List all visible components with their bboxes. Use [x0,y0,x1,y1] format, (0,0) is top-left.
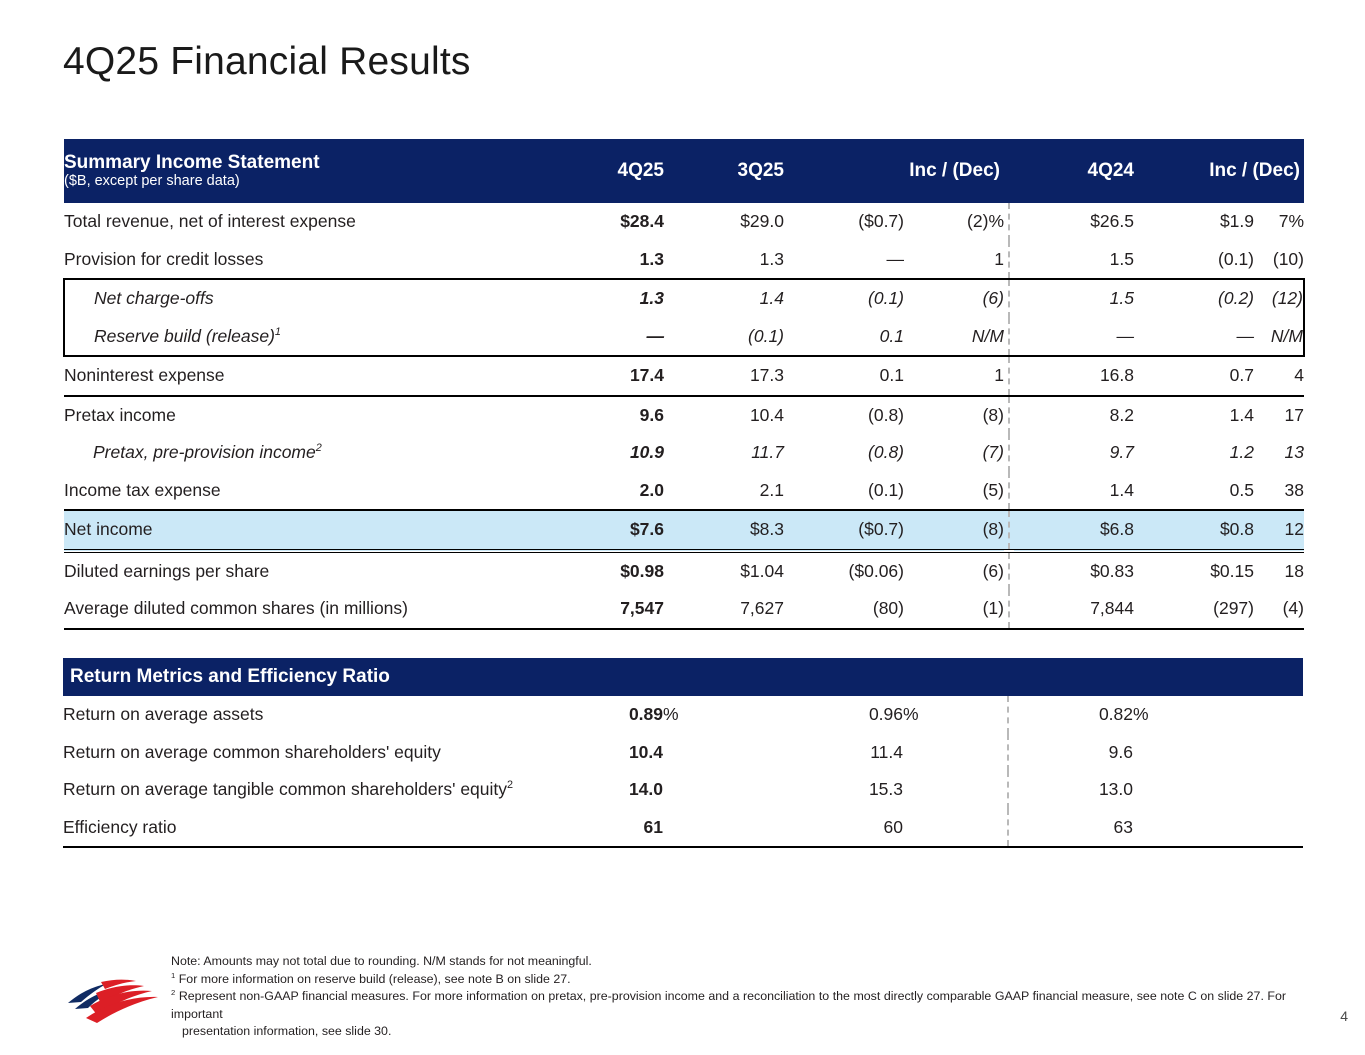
cell-3q25: 1.3 [664,241,784,280]
percent-sign-4q25 [663,809,783,848]
bank-of-america-flagscape-logo [66,973,164,1025]
cell-incdec-qoq-pct: (8) [904,510,1004,551]
cell-4q24: 9.6 [1013,734,1133,772]
column-separator [1004,510,1014,551]
cell-4q24: 16.8 [1014,356,1134,396]
cell-4q24: 0.82 [1013,696,1133,734]
column-separator [1003,809,1013,848]
percent-sign-4q25 [663,734,783,772]
row-label: Noninterest expense [64,356,546,396]
cell-4q25: 61 [545,809,663,848]
percent-sign: % [1288,211,1304,231]
percent-sign-4q24 [1133,771,1253,809]
column-separator [1003,771,1013,809]
cell-incdec-qoq-amt: (0.1) [784,472,904,511]
table-row: Return on average assets 0.89 % 0.96 % 0… [63,696,1303,734]
cell-incdec-qoq-pct: (5) [904,472,1004,511]
cell-3q25: 10.4 [664,396,784,435]
cell-4q25: 17.4 [546,356,664,396]
column-separator [1004,472,1014,511]
cell-4q24: $0.83 [1014,551,1134,591]
income-table-header-title: Summary Income Statement ($B, except per… [64,139,546,203]
return-metrics-table: Return Metrics and Efficiency Ratio Retu… [63,658,1303,848]
cell-3q25: 2.1 [664,472,784,511]
percent-sign: % [988,211,1004,231]
cell-3q25: 1.4 [664,279,784,318]
cell-4q25: 0.89 [545,696,663,734]
row-label: Diluted earnings per share [64,551,546,591]
footnote-marker-1: 1 [171,970,175,979]
cell-3q25: 11.4 [783,734,903,772]
cell-4q24: 9.7 [1014,434,1134,472]
cell-incdec-yoy-amt: 1.2 [1134,434,1254,472]
cell-3q25: 0.96 [783,696,903,734]
column-separator [1004,203,1014,241]
cell-incdec-yoy-amt: $0.15 [1134,551,1254,591]
cell-incdec-qoq-amt: 0.1 [784,356,904,396]
column-separator [1003,696,1013,734]
cell-4q25: — [546,318,664,357]
empty-cell [1253,734,1303,772]
page-title: 4Q25 Financial Results [63,40,471,84]
cell-4q24: $6.8 [1014,510,1134,551]
column-separator [1004,241,1014,280]
cell-4q25: 10.9 [546,434,664,472]
percent-sign-4q25 [663,771,783,809]
cell-3q25: 17.3 [664,356,784,396]
income-table-header-row: Summary Income Statement ($B, except per… [64,139,1304,203]
cell-incdec-yoy-pct: 17 [1254,396,1304,435]
percent-sign-4q24: % [1133,696,1253,734]
footnote-1: 1 For more information on reserve build … [171,971,1286,989]
table-row: Return on average tangible common shareh… [63,771,1303,809]
cell-incdec-qoq-pct: (8) [904,396,1004,435]
footnote-marker-2: 2 [171,988,175,997]
row-label: Efficiency ratio [63,809,545,848]
return-metrics-header-row: Return Metrics and Efficiency Ratio [63,658,1303,696]
column-separator [1004,434,1014,472]
table-row-net-income: Net income $7.6 $8.3 ($0.7) (8) $6.8 $0.… [64,510,1304,551]
percent-sign-3q25: % [903,696,1003,734]
header-gap-cell [1004,139,1014,203]
cell-3q25: 11.7 [664,434,784,472]
cell-4q24: 1.5 [1014,241,1134,280]
cell-4q25: $28.4 [546,203,664,241]
cell-4q25: 1.3 [546,279,664,318]
row-label: Net income [64,510,546,551]
cell-incdec-qoq-amt: (80) [784,590,904,629]
column-header-4q24: 4Q24 [1014,139,1134,203]
row-label: Pretax income [64,396,546,435]
cell-4q25: 10.4 [545,734,663,772]
table-row: Efficiency ratio 61 60 63 [63,809,1303,848]
row-label: Income tax expense [64,472,546,511]
footnotes-block: Note: Amounts may not total due to round… [171,953,1286,1041]
row-label: Return on average assets [63,696,545,734]
column-header-inc-dec-qoq: Inc / (Dec) [784,139,1004,203]
empty-cell [1253,696,1303,734]
percent-sign-4q24 [1133,734,1253,772]
footnote-marker: 2 [316,442,322,454]
cell-incdec-yoy-pct: (4) [1254,590,1304,629]
cell-incdec-qoq-pct: (7) [904,434,1004,472]
footnote-marker: 2 [507,779,513,791]
cell-incdec-qoq-pct: (2)% [904,203,1004,241]
cell-incdec-yoy-amt: (0.2) [1134,279,1254,318]
cell-incdec-yoy-pct: (10) [1254,241,1304,280]
cell-incdec-yoy-pct: N/M [1254,318,1304,357]
table-row: Income tax expense 2.0 2.1 (0.1) (5) 1.4… [64,472,1304,511]
footnote-note: Note: Amounts may not total due to round… [171,953,1286,971]
column-header-4q25: 4Q25 [546,139,664,203]
summary-income-statement-table: Summary Income Statement ($B, except per… [63,139,1303,630]
cell-incdec-qoq-pct: (1) [904,590,1004,629]
table-row: Pretax, pre-provision income2 10.9 11.7 … [64,434,1304,472]
cell-3q25: $8.3 [664,510,784,551]
table-row: Noninterest expense 17.4 17.3 0.1 1 16.8… [64,356,1304,396]
income-table-header-subtitle: ($B, except per share data) [64,173,546,190]
cell-incdec-yoy-amt: $0.8 [1134,510,1254,551]
percent-sign-3q25 [903,809,1003,848]
column-header-3q25: 3Q25 [664,139,784,203]
table-row: Total revenue, net of interest expense $… [64,203,1304,241]
footnote-2-continued: presentation information, see slide 30. [171,1023,1286,1041]
cell-4q25: $0.98 [546,551,664,591]
cell-3q25: 7,627 [664,590,784,629]
income-table-header-title-text: Summary Income Statement [64,152,546,173]
empty-cell [1253,771,1303,809]
page-number: 4 [1340,1008,1348,1024]
row-label: Provision for credit losses [64,241,546,280]
cell-3q25: 15.3 [783,771,903,809]
cell-incdec-qoq-pct: N/M [904,318,1004,357]
cell-3q25: $1.04 [664,551,784,591]
cell-incdec-yoy-amt: (0.1) [1134,241,1254,280]
cell-3q25: (0.1) [664,318,784,357]
row-label: Return on average tangible common shareh… [63,771,545,809]
column-separator [1004,356,1014,396]
column-separator [1004,396,1014,435]
empty-cell [1253,809,1303,848]
footnote-marker: 1 [275,326,281,338]
cell-4q25: 14.0 [545,771,663,809]
row-label: Return on average common shareholders' e… [63,734,545,772]
cell-incdec-yoy-pct: 12 [1254,510,1304,551]
cell-incdec-yoy-pct: 38 [1254,472,1304,511]
table-row: Pretax income 9.6 10.4 (0.8) (8) 8.2 1.4… [64,396,1304,435]
cell-incdec-yoy-amt: $1.9 [1134,203,1254,241]
percent-sign-3q25 [903,734,1003,772]
cell-incdec-yoy-pct: (12) [1254,279,1304,318]
cell-4q24: 1.4 [1014,472,1134,511]
cell-4q24: 1.5 [1014,279,1134,318]
column-header-inc-dec-yoy: Inc / (Dec) [1134,139,1304,203]
cell-3q25: $29.0 [664,203,784,241]
cell-incdec-qoq-amt: (0.8) [784,396,904,435]
cell-incdec-yoy-pct: 18 [1254,551,1304,591]
cell-4q25: 2.0 [546,472,664,511]
cell-incdec-yoy-pct: 7% [1254,203,1304,241]
row-label: Reserve build (release)1 [64,318,546,357]
cell-incdec-qoq-amt: (0.1) [784,279,904,318]
column-separator [1003,734,1013,772]
cell-4q24: 63 [1013,809,1133,848]
column-separator [1004,318,1014,357]
cell-4q25: 1.3 [546,241,664,280]
cell-incdec-yoy-pct: 13 [1254,434,1304,472]
table-row: Diluted earnings per share $0.98 $1.04 (… [64,551,1304,591]
column-separator [1004,279,1014,318]
table-row: Return on average common shareholders' e… [63,734,1303,772]
column-separator [1004,551,1014,591]
cell-3q25: 60 [783,809,903,848]
row-label: Pretax, pre-provision income2 [64,434,546,472]
cell-4q24: 8.2 [1014,396,1134,435]
cell-incdec-qoq-pct: 1 [904,356,1004,396]
percent-sign-4q25: % [663,696,783,734]
cell-incdec-qoq-amt: (0.8) [784,434,904,472]
cell-incdec-yoy-amt: (297) [1134,590,1254,629]
cell-4q24: 7,844 [1014,590,1134,629]
cell-incdec-qoq-pct: 1 [904,241,1004,280]
table-row: Average diluted common shares (in millio… [64,590,1304,629]
cell-incdec-yoy-amt: — [1134,318,1254,357]
percent-sign-4q24 [1133,809,1253,848]
cell-incdec-yoy-amt: 1.4 [1134,396,1254,435]
cell-incdec-qoq-amt: ($0.06) [784,551,904,591]
row-label: Average diluted common shares (in millio… [64,590,546,629]
table-row: Provision for credit losses 1.3 1.3 — 1 … [64,241,1304,280]
cell-4q24: — [1014,318,1134,357]
cell-4q24: $26.5 [1014,203,1134,241]
cell-incdec-qoq-pct: (6) [904,551,1004,591]
cell-4q25: $7.6 [546,510,664,551]
cell-incdec-qoq-amt: ($0.7) [784,510,904,551]
cell-4q25: 7,547 [546,590,664,629]
cell-4q24: 13.0 [1013,771,1133,809]
column-separator [1004,590,1014,629]
cell-4q25: 9.6 [546,396,664,435]
return-metrics-header-title: Return Metrics and Efficiency Ratio [63,658,1303,696]
cell-incdec-qoq-amt: ($0.7) [784,203,904,241]
table-row: Net charge-offs 1.3 1.4 (0.1) (6) 1.5 (0… [64,279,1304,318]
cell-incdec-yoy-amt: 0.7 [1134,356,1254,396]
cell-incdec-qoq-pct: (6) [904,279,1004,318]
cell-incdec-qoq-amt: 0.1 [784,318,904,357]
row-label: Total revenue, net of interest expense [64,203,546,241]
percent-sign-3q25 [903,771,1003,809]
cell-incdec-qoq-amt: — [784,241,904,280]
cell-incdec-yoy-amt: 0.5 [1134,472,1254,511]
table-row: Reserve build (release)1 — (0.1) 0.1 N/M… [64,318,1304,357]
footnote-2: 2 Represent non-GAAP financial measures.… [171,988,1286,1023]
row-label: Net charge-offs [64,279,546,318]
cell-incdec-yoy-pct: 4 [1254,356,1304,396]
